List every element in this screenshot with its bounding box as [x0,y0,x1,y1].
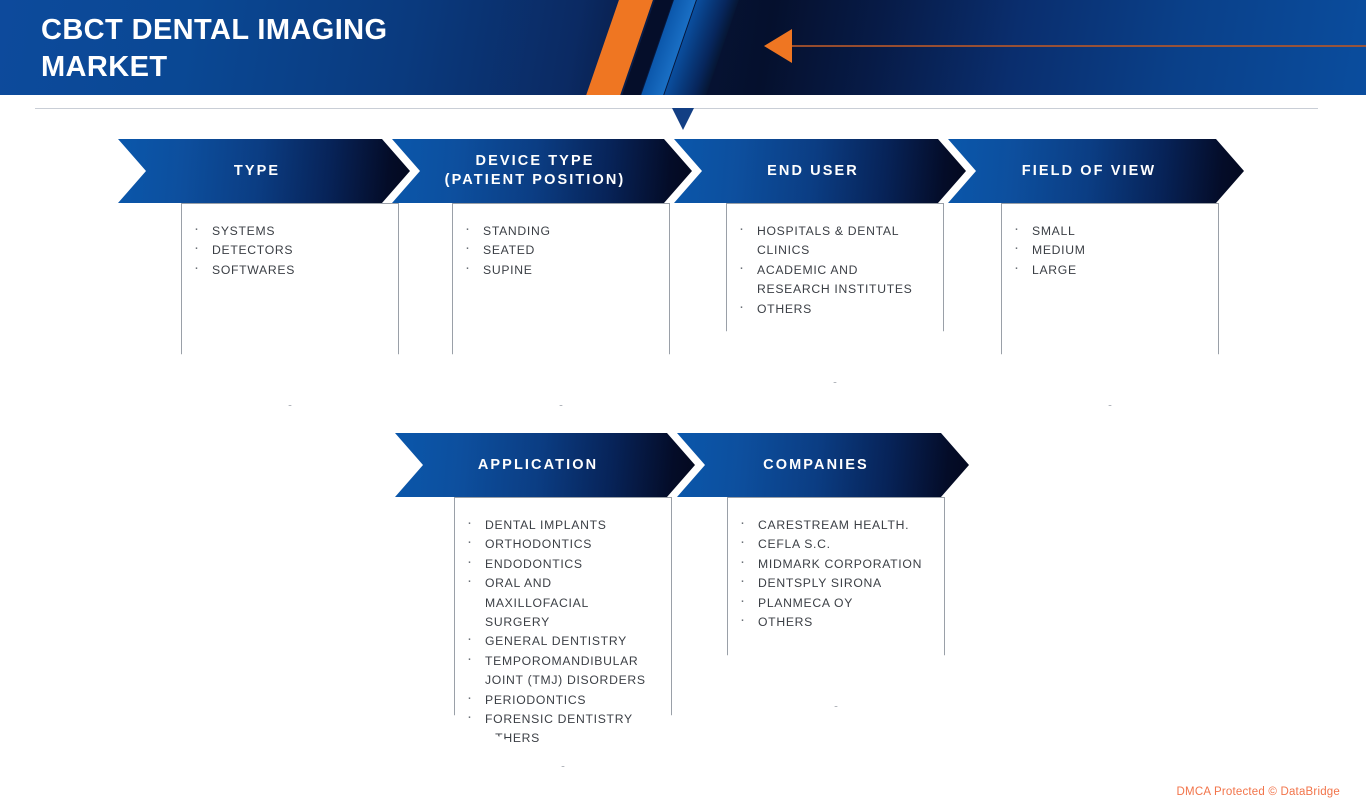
list-item: ACADEMIC AND RESEARCH INSTITUTES [755,261,929,300]
list-item: FORENSIC DENTISTRY [483,710,657,729]
section-banner-device-type[interactable]: DEVICE TYPE (PATIENT POSITION) [392,139,692,203]
list-item: MEDIUM [1030,241,1204,260]
list-type: SYSTEMS DETECTORS SOFTWARES [182,204,398,280]
list-item: MIDMARK CORPORATION [756,555,930,574]
section-panel-end-user: HOSPITALS & DENTAL CLINICS ACADEMIC AND … [726,203,944,383]
list-item: OTHERS [756,613,930,632]
page-header: CBCT DENTAL IMAGING MARKET [0,0,1366,95]
list-item: SMALL [1030,222,1204,241]
list-item: PLANMECA OY [756,594,930,613]
list-item: DENTSPLY SIRONA [756,574,930,593]
list-companies: CARESTREAM HEALTH. CEFLA S.C. MIDMARK CO… [728,498,944,632]
section-title-end-user: END USER [767,162,859,181]
list-item: GENERAL DENTISTRY [483,632,657,651]
list-item: HOSPITALS & DENTAL CLINICS [755,222,929,261]
list-item: CEFLA S.C. [756,535,930,554]
list-item: SYSTEMS [210,222,384,241]
section-title-type: TYPE [234,162,280,181]
header-rule [790,45,1366,47]
list-item: ORAL AND MAXILLOFACIAL SURGERY [483,574,657,632]
left-arrow-icon [764,29,792,63]
list-device-type: STANDING SEATED SUPINE [453,204,669,280]
list-item: DETECTORS [210,241,384,260]
section-panel-companies: CARESTREAM HEALTH. CEFLA S.C. MIDMARK CO… [727,497,945,707]
list-item: STANDING [481,222,655,241]
section-title-device-type: DEVICE TYPE (PATIENT POSITION) [445,152,626,190]
section-title-companies: COMPANIES [763,456,869,475]
section-title-application: APPLICATION [478,456,598,475]
list-end-user: HOSPITALS & DENTAL CLINICS ACADEMIC AND … [727,204,943,319]
list-item: SUPINE [481,261,655,280]
section-banner-end-user[interactable]: END USER [674,139,966,203]
list-item: SOFTWARES [210,261,384,280]
section-panel-device-type: STANDING SEATED SUPINE [452,203,670,406]
section-panel-type: SYSTEMS DETECTORS SOFTWARES [181,203,399,406]
section-banner-application[interactable]: APPLICATION [395,433,695,497]
list-field-of-view: SMALL MEDIUM LARGE [1002,204,1218,280]
list-item: ENDODONTICS [483,555,657,574]
section-panel-field-of-view: SMALL MEDIUM LARGE [1001,203,1219,406]
list-item: PERIODONTICS [483,691,657,710]
list-item: DENTAL IMPLANTS [483,516,657,535]
section-banner-type[interactable]: TYPE [118,139,410,203]
section-banner-field-of-view[interactable]: FIELD OF VIEW [948,139,1244,203]
down-triangle-icon [672,108,694,130]
list-item: SEATED [481,241,655,260]
list-application: DENTAL IMPLANTS ORTHODONTICS ENDODONTICS… [455,498,671,749]
list-item: CARESTREAM HEALTH. [756,516,930,535]
list-item: OTHERS [483,729,657,748]
list-item: LARGE [1030,261,1204,280]
list-item: OTHERS [755,300,929,319]
list-item: TEMPOROMANDIBULAR JOINT (TMJ) DISORDERS [483,652,657,691]
section-panel-application: DENTAL IMPLANTS ORTHODONTICS ENDODONTICS… [454,497,672,767]
list-item: ORTHODONTICS [483,535,657,554]
copyright-notice: DMCA Protected © DataBridge [1177,786,1340,798]
section-banner-companies[interactable]: COMPANIES [677,433,969,497]
page-title: CBCT DENTAL IMAGING MARKET [41,12,681,86]
section-title-field-of-view: FIELD OF VIEW [1022,162,1156,181]
